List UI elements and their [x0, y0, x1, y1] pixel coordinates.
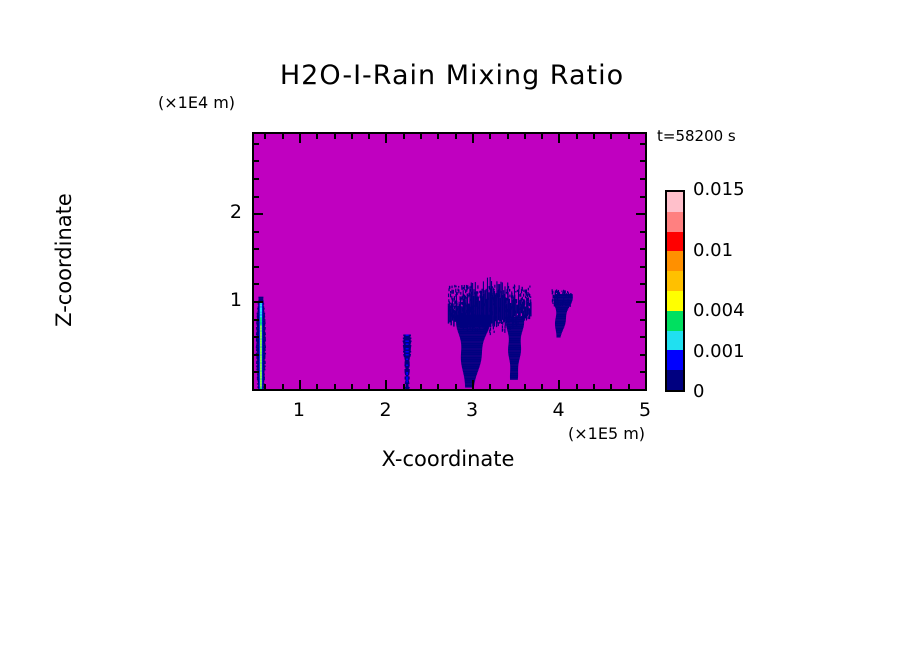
x-tick-major-top: [385, 134, 387, 143]
x-tick-label: 1: [274, 399, 324, 421]
x-tick-minor: [316, 384, 318, 389]
y-tick-label: 1: [216, 289, 242, 311]
x-tick-minor: [524, 384, 526, 389]
colorbar-tick-label: 0.01: [693, 240, 733, 261]
y-tick-minor: [254, 231, 259, 233]
y-tick-minor: [254, 354, 259, 356]
x-tick-minor: [351, 384, 353, 389]
colorbar-band: [667, 212, 683, 232]
x-tick-minor-top: [455, 134, 457, 139]
x-tick-major-top: [558, 134, 560, 143]
x-tick-minor: [264, 384, 266, 389]
x-tick-minor: [576, 384, 578, 389]
y-tick-minor-right: [640, 319, 645, 321]
x-tick-minor-top: [420, 134, 422, 139]
figure-canvas: H2O-I-Rain Mixing Ratio (×1E4 m) t=58200…: [0, 0, 904, 654]
colorbar-band: [667, 291, 683, 311]
x-tick-minor-top: [316, 134, 318, 139]
y-tick-minor: [254, 371, 259, 373]
x-tick-minor-top: [437, 134, 439, 139]
x-tick-label: 5: [620, 399, 670, 421]
colorbar-tick-label: 0.001: [693, 341, 745, 362]
x-tick-minor: [593, 384, 595, 389]
x-tick-minor-top: [264, 134, 266, 139]
y-tick-major-right: [636, 213, 645, 215]
x-tick-major-top: [472, 134, 474, 143]
x-tick-minor: [368, 384, 370, 389]
y-tick-minor-right: [640, 160, 645, 162]
plot-inner: [254, 134, 645, 389]
y-tick-minor-right: [640, 143, 645, 145]
x-tick-minor-top: [403, 134, 405, 139]
x-tick-minor: [489, 384, 491, 389]
y-tick-minor-right: [640, 231, 645, 233]
x-tick-major: [558, 380, 560, 389]
y-tick-major-right: [636, 301, 645, 303]
x-tick-label: 3: [447, 399, 497, 421]
y-tick-minor: [254, 389, 259, 391]
heatmap-field: [254, 134, 645, 389]
x-tick-minor-top: [541, 134, 543, 139]
y-tick-minor-right: [640, 196, 645, 198]
x-tick-minor-top: [368, 134, 370, 139]
x-tick-major-top: [299, 134, 301, 143]
time-annotation: t=58200 s: [657, 127, 736, 145]
y-tick-minor: [254, 248, 259, 250]
y-tick-minor: [254, 178, 259, 180]
x-tick-minor: [541, 384, 543, 389]
colorbar-band: [667, 311, 683, 331]
y-tick-minor: [254, 143, 259, 145]
y-tick-minor: [254, 319, 259, 321]
x-tick-minor: [628, 384, 630, 389]
x-tick-minor: [282, 384, 284, 389]
y-tick-minor: [254, 336, 259, 338]
x-tick-minor: [507, 384, 509, 389]
x-tick-minor-top: [576, 134, 578, 139]
plot-area: [252, 132, 647, 391]
y-tick-minor-right: [640, 266, 645, 268]
x-tick-minor-top: [628, 134, 630, 139]
page-title: H2O-I-Rain Mixing Ratio: [0, 60, 904, 91]
y-tick-minor: [254, 283, 259, 285]
y-axis-title: Z-coordinate: [52, 140, 76, 380]
y-tick-label: 2: [216, 201, 242, 223]
x-tick-minor: [437, 384, 439, 389]
y-tick-minor-right: [640, 283, 645, 285]
colorbar-band: [667, 331, 683, 351]
x-tick-minor: [420, 384, 422, 389]
y-tick-major: [254, 213, 263, 215]
colorbar-band: [667, 192, 683, 212]
x-tick-major: [299, 380, 301, 389]
colorbar-band: [667, 370, 683, 390]
colorbar-band: [667, 232, 683, 252]
y-tick-minor-right: [640, 178, 645, 180]
y-tick-minor-right: [640, 371, 645, 373]
x-tick-minor-top: [334, 134, 336, 139]
y-tick-minor-right: [640, 389, 645, 391]
y-tick-minor: [254, 160, 259, 162]
y-tick-minor-right: [640, 248, 645, 250]
y-tick-major: [254, 301, 263, 303]
y-axis-unit-label: (×1E4 m): [158, 93, 235, 112]
x-tick-minor-top: [282, 134, 284, 139]
colorbar-band: [667, 271, 683, 291]
y-tick-minor: [254, 266, 259, 268]
x-tick-major: [385, 380, 387, 389]
x-tick-minor-top: [507, 134, 509, 139]
y-tick-minor-right: [640, 336, 645, 338]
x-tick-minor-top: [524, 134, 526, 139]
x-tick-minor-top: [351, 134, 353, 139]
colorbar-tick-label: 0: [693, 381, 704, 402]
x-tick-minor: [455, 384, 457, 389]
colorbar-tick-label: 0.004: [693, 300, 745, 321]
x-tick-minor-top: [593, 134, 595, 139]
y-tick-minor-right: [640, 354, 645, 356]
x-tick-minor: [610, 384, 612, 389]
x-axis-title: X-coordinate: [252, 447, 644, 471]
colorbar-tick-label: 0.015: [693, 179, 745, 200]
colorbar: [665, 190, 685, 392]
y-tick-minor: [254, 196, 259, 198]
x-tick-minor-top: [610, 134, 612, 139]
x-tick-label: 4: [533, 399, 583, 421]
x-tick-minor: [334, 384, 336, 389]
x-tick-minor-top: [489, 134, 491, 139]
x-tick-major: [645, 380, 647, 389]
x-tick-major-top: [645, 134, 647, 143]
x-tick-major: [472, 380, 474, 389]
colorbar-band: [667, 251, 683, 271]
x-axis-unit-label: (×1E5 m): [568, 424, 645, 443]
x-tick-label: 2: [360, 399, 410, 421]
colorbar-band: [667, 350, 683, 370]
x-tick-minor: [403, 384, 405, 389]
